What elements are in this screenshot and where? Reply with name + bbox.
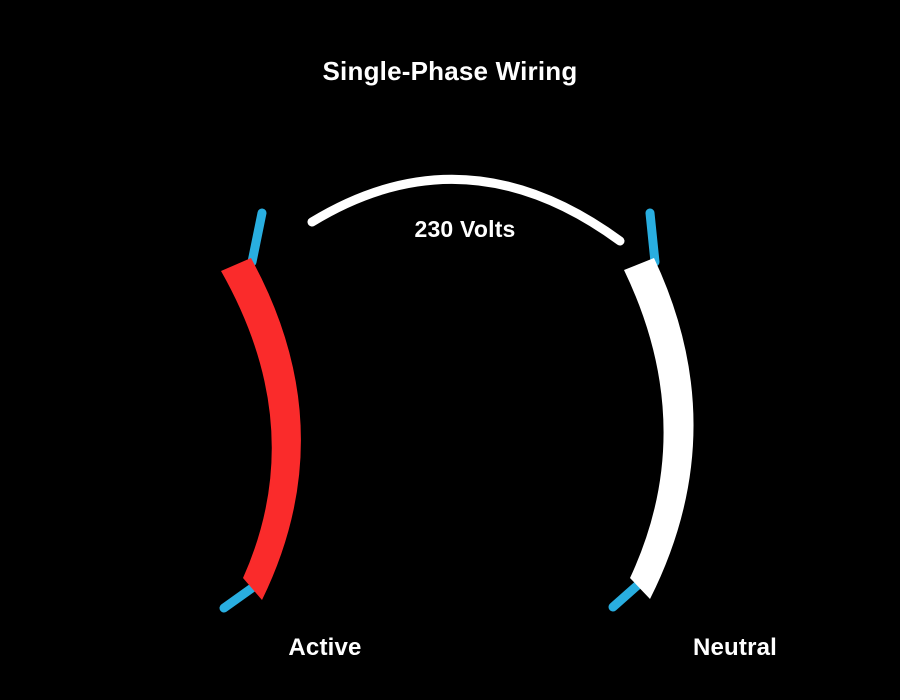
neutral-conductor-top (650, 213, 655, 262)
active-wire-label: Active (288, 634, 361, 661)
wiring-diagram-canvas: Single-Phase Wiring Active Neutral 23 (0, 0, 900, 700)
single-phase-wiring-graphic: Single-Phase Wiring Active Neutral 23 (0, 0, 900, 700)
background-rect (0, 0, 900, 700)
page-title: Single-Phase Wiring (323, 56, 578, 86)
neutral-wire-label: Neutral (693, 634, 777, 661)
voltage-label: 230 Volts (414, 216, 515, 242)
